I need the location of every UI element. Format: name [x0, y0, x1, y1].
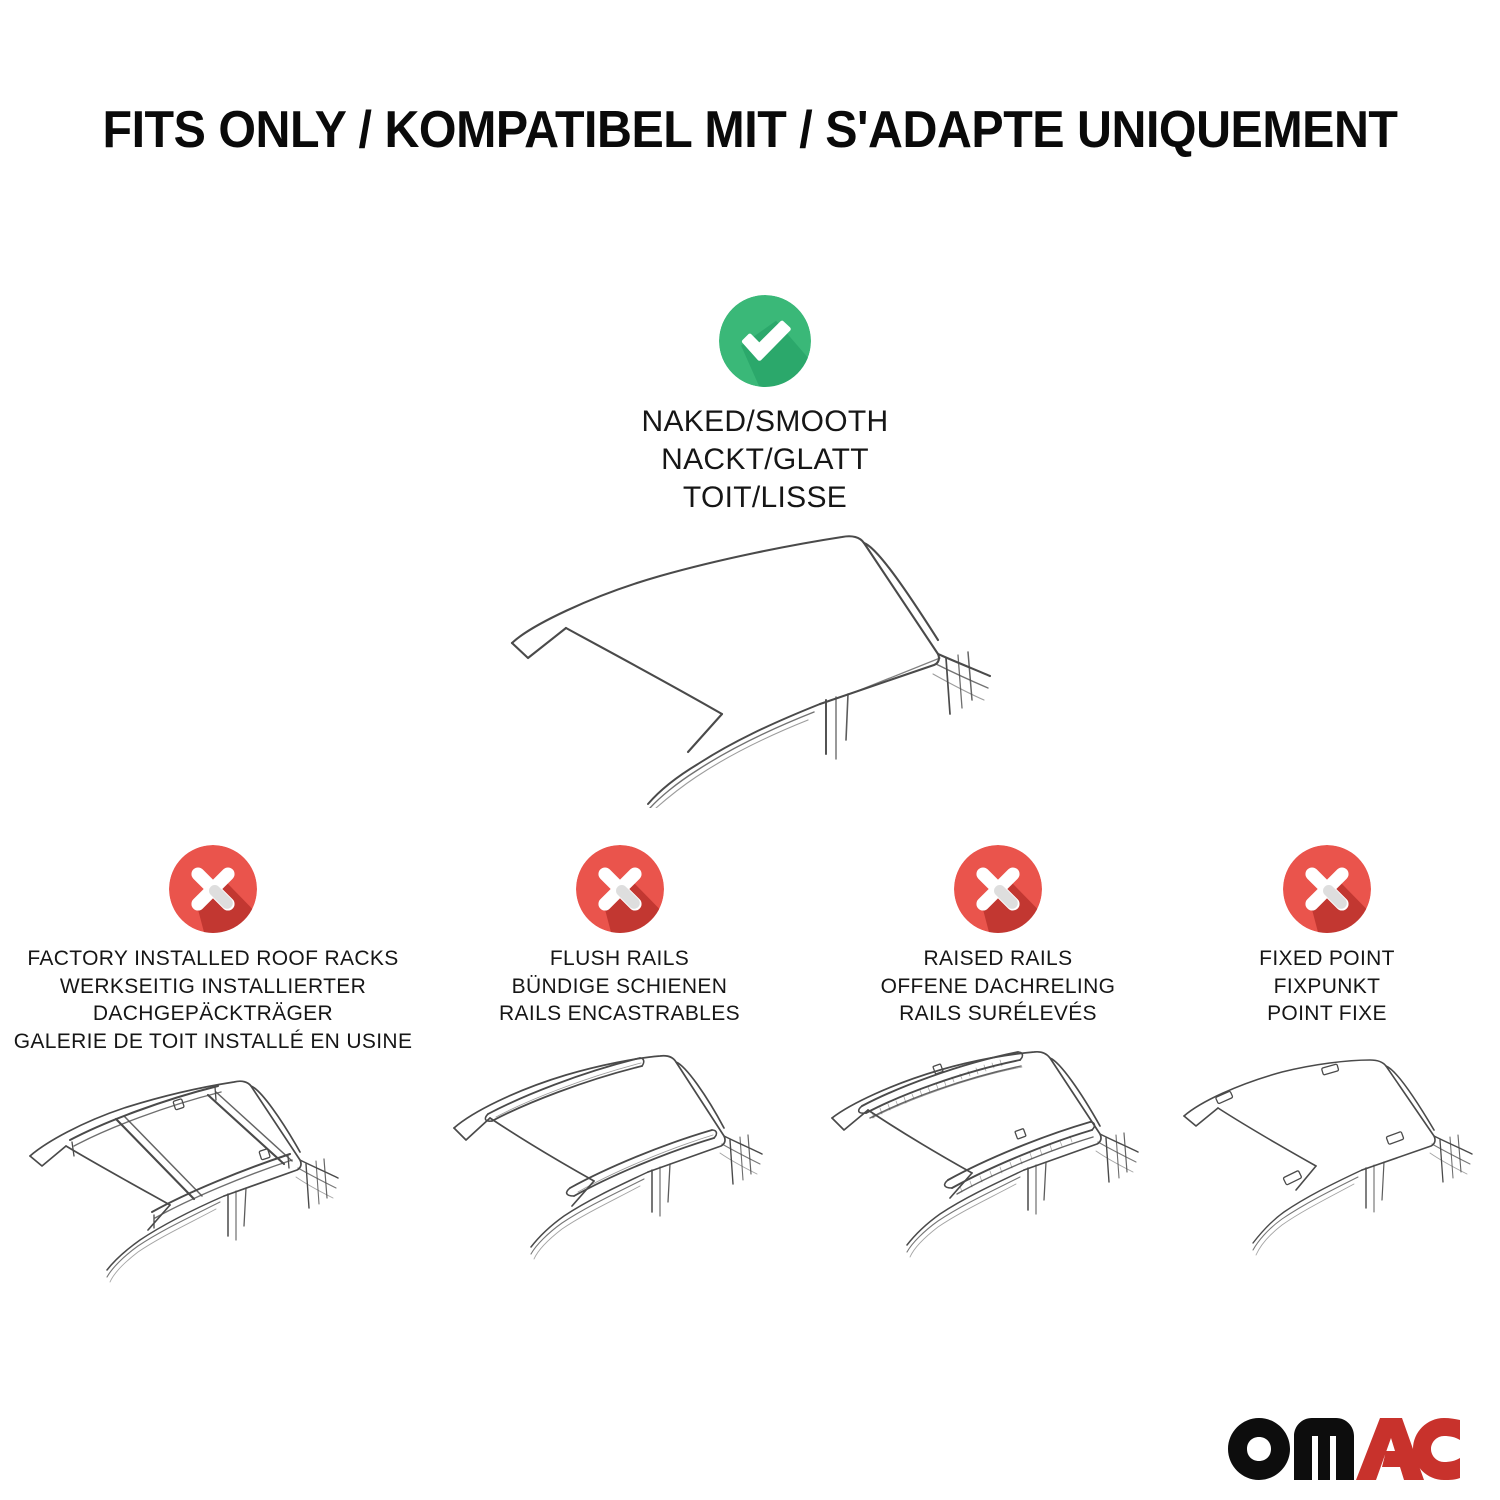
incompatible-item-factory-rack: FACTORY INSTALLED ROOF RACKS WERKSEITIG …: [12, 845, 414, 1285]
label-en: FIXED POINT: [1259, 945, 1395, 973]
label-fr: RAILS SURÉLEVÉS: [881, 1000, 1116, 1028]
cross-icon: [169, 845, 257, 933]
label-fr: RAILS ENCASTRABLES: [499, 1000, 740, 1028]
car-roof-factory-rack-illustration: [12, 1060, 414, 1285]
car-roof-fixed-point-illustration: [1172, 1058, 1482, 1283]
compatible-label-de: NACKT/GLATT: [642, 441, 889, 479]
logo-letter-o: [1228, 1418, 1290, 1480]
label-fr: GALERIE DE TOIT INSTALLÉ EN USINE: [14, 1028, 413, 1056]
label-de-1: OFFENE DACHRELING: [881, 973, 1116, 1001]
incompatible-group: FACTORY INSTALLED ROOF RACKS WERKSEITIG …: [0, 845, 1500, 1315]
label-fr: POINT FIXE: [1259, 1000, 1395, 1028]
incompatible-caption: FACTORY INSTALLED ROOF RACKS WERKSEITIG …: [14, 945, 413, 1056]
label-en: FLUSH RAILS: [499, 945, 740, 973]
infographic-canvas: FITS ONLY / KOMPATIBEL MIT / S'ADAPTE UN…: [0, 0, 1500, 1500]
incompatible-item-fixed-point: FIXED POINT FIXPUNKT POINT FIXE: [1172, 845, 1482, 1283]
cross-icon: [1283, 845, 1371, 933]
label-en: RAISED RAILS: [881, 945, 1116, 973]
incompatible-item-flush-rails: FLUSH RAILS BÜNDIGE SCHIENEN RAILS ENCAS…: [432, 845, 807, 1273]
car-roof-flush-rails-illustration: [432, 1048, 807, 1273]
logo-letter-m: [1294, 1418, 1354, 1480]
incompatible-caption: FLUSH RAILS BÜNDIGE SCHIENEN RAILS ENCAS…: [499, 945, 740, 1028]
cross-icon: [954, 845, 1042, 933]
omac-logo: [1228, 1418, 1460, 1480]
label-de-1: WERKSEITIG INSTALLIERTER: [14, 973, 413, 1001]
cross-icon: [576, 845, 664, 933]
page-title: FITS ONLY / KOMPATIBEL MIT / S'ADAPTE UN…: [53, 103, 1448, 158]
compatible-caption: NAKED/SMOOTH NACKT/GLATT TOIT/LISSE: [642, 403, 889, 516]
incompatible-item-raised-rails: RAISED RAILS OFFENE DACHRELING RAILS SUR…: [812, 845, 1184, 1273]
label-en: FACTORY INSTALLED ROOF RACKS: [14, 945, 413, 973]
incompatible-caption: FIXED POINT FIXPUNKT POINT FIXE: [1259, 945, 1395, 1028]
car-roof-raised-rails-illustration: [812, 1048, 1184, 1273]
label-de-1: BÜNDIGE SCHIENEN: [499, 973, 740, 1001]
compatible-group: NAKED/SMOOTH NACKT/GLATT TOIT/LISSE: [470, 295, 1060, 516]
incompatible-caption: RAISED RAILS OFFENE DACHRELING RAILS SUR…: [881, 945, 1116, 1028]
label-de-2: DACHGEPÄCKTRÄGER: [14, 1000, 413, 1028]
car-roof-naked-smooth-illustration: [470, 518, 1060, 808]
check-icon: [719, 295, 811, 387]
compatible-label-fr: TOIT/LISSE: [642, 479, 889, 517]
label-de-1: FIXPUNKT: [1259, 973, 1395, 1001]
compatible-label-en: NAKED/SMOOTH: [642, 403, 889, 441]
